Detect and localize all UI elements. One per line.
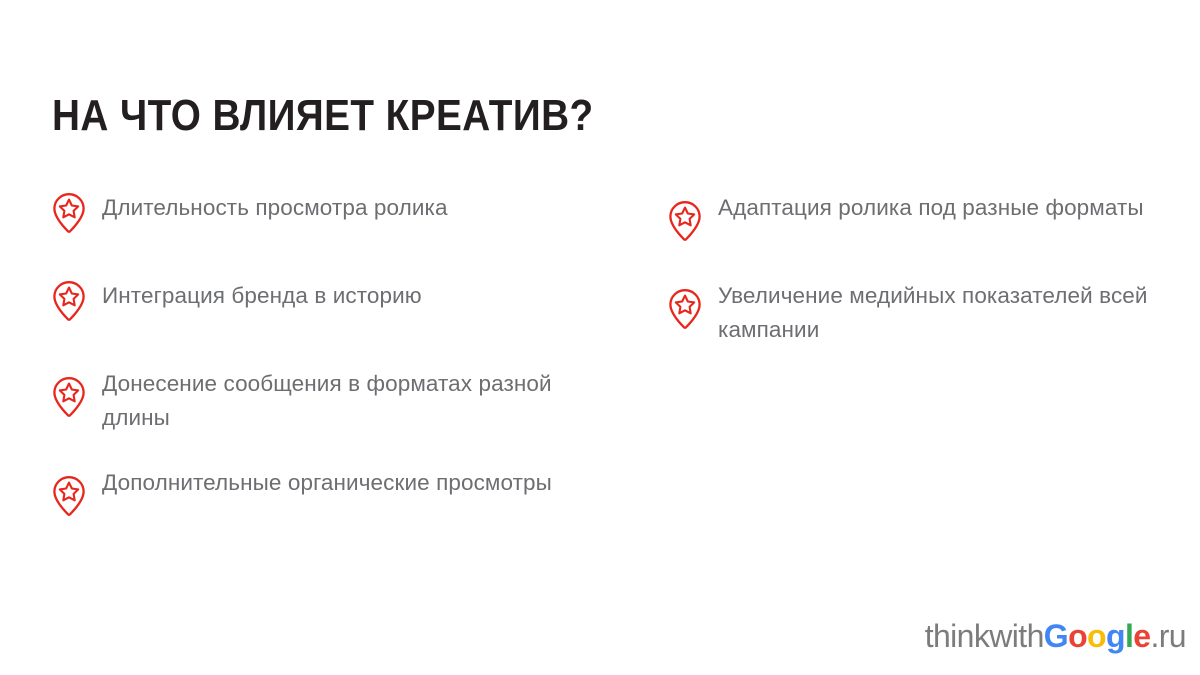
logo-google-letter-g1: G	[1044, 618, 1068, 654]
logo-google-letter-e: e	[1133, 618, 1150, 654]
list-item: Длительность просмотра ролика	[52, 190, 612, 236]
map-pin-star-icon	[668, 288, 702, 330]
list-item: Увеличение медийных показателей всей кам…	[668, 278, 1188, 347]
logo-google-letter-l: l	[1125, 618, 1133, 654]
list-item-label: Дополнительные органические просмотры	[102, 465, 552, 500]
map-pin-star-icon	[52, 192, 86, 234]
page-title: НА ЧТО ВЛИЯЕТ КРЕАТИВ?	[52, 91, 594, 141]
map-pin-star-icon	[52, 376, 86, 418]
logo-prefix: thinkwith	[925, 618, 1044, 654]
map-pin-star-icon	[52, 280, 86, 322]
list-item-label: Адаптация ролика под разные форматы	[718, 190, 1144, 225]
logo-tld: .ru	[1150, 618, 1186, 654]
logo-google-letter-o1: o	[1068, 618, 1087, 654]
logo-google-letter-o2: o	[1087, 618, 1106, 654]
logo-google-letter-g2: g	[1106, 618, 1125, 654]
list-item-label: Длительность просмотра ролика	[102, 190, 448, 225]
list-item: Донесение сообщения в форматах разной дл…	[52, 366, 612, 435]
map-pin-star-icon	[668, 200, 702, 242]
list-item: Интеграция бренда в историю	[52, 278, 612, 324]
bullet-column-left: Длительность просмотра ролика Интеграция…	[52, 190, 612, 547]
list-item-label: Интеграция бренда в историю	[102, 278, 422, 313]
list-item: Дополнительные органические просмотры	[52, 465, 612, 517]
bullet-column-right: Адаптация ролика под разные форматы Увел…	[668, 190, 1188, 383]
thinkwithgoogle-logo: thinkwithGoogle.ru	[925, 619, 1186, 653]
slide-canvas: НА ЧТО ВЛИЯЕТ КРЕАТИВ? Длительность прос…	[0, 0, 1200, 675]
list-item: Адаптация ролика под разные форматы	[668, 190, 1188, 242]
list-item-label: Увеличение медийных показателей всей кам…	[718, 278, 1188, 347]
list-item-label: Донесение сообщения в форматах разной дл…	[102, 366, 612, 435]
map-pin-star-icon	[52, 475, 86, 517]
